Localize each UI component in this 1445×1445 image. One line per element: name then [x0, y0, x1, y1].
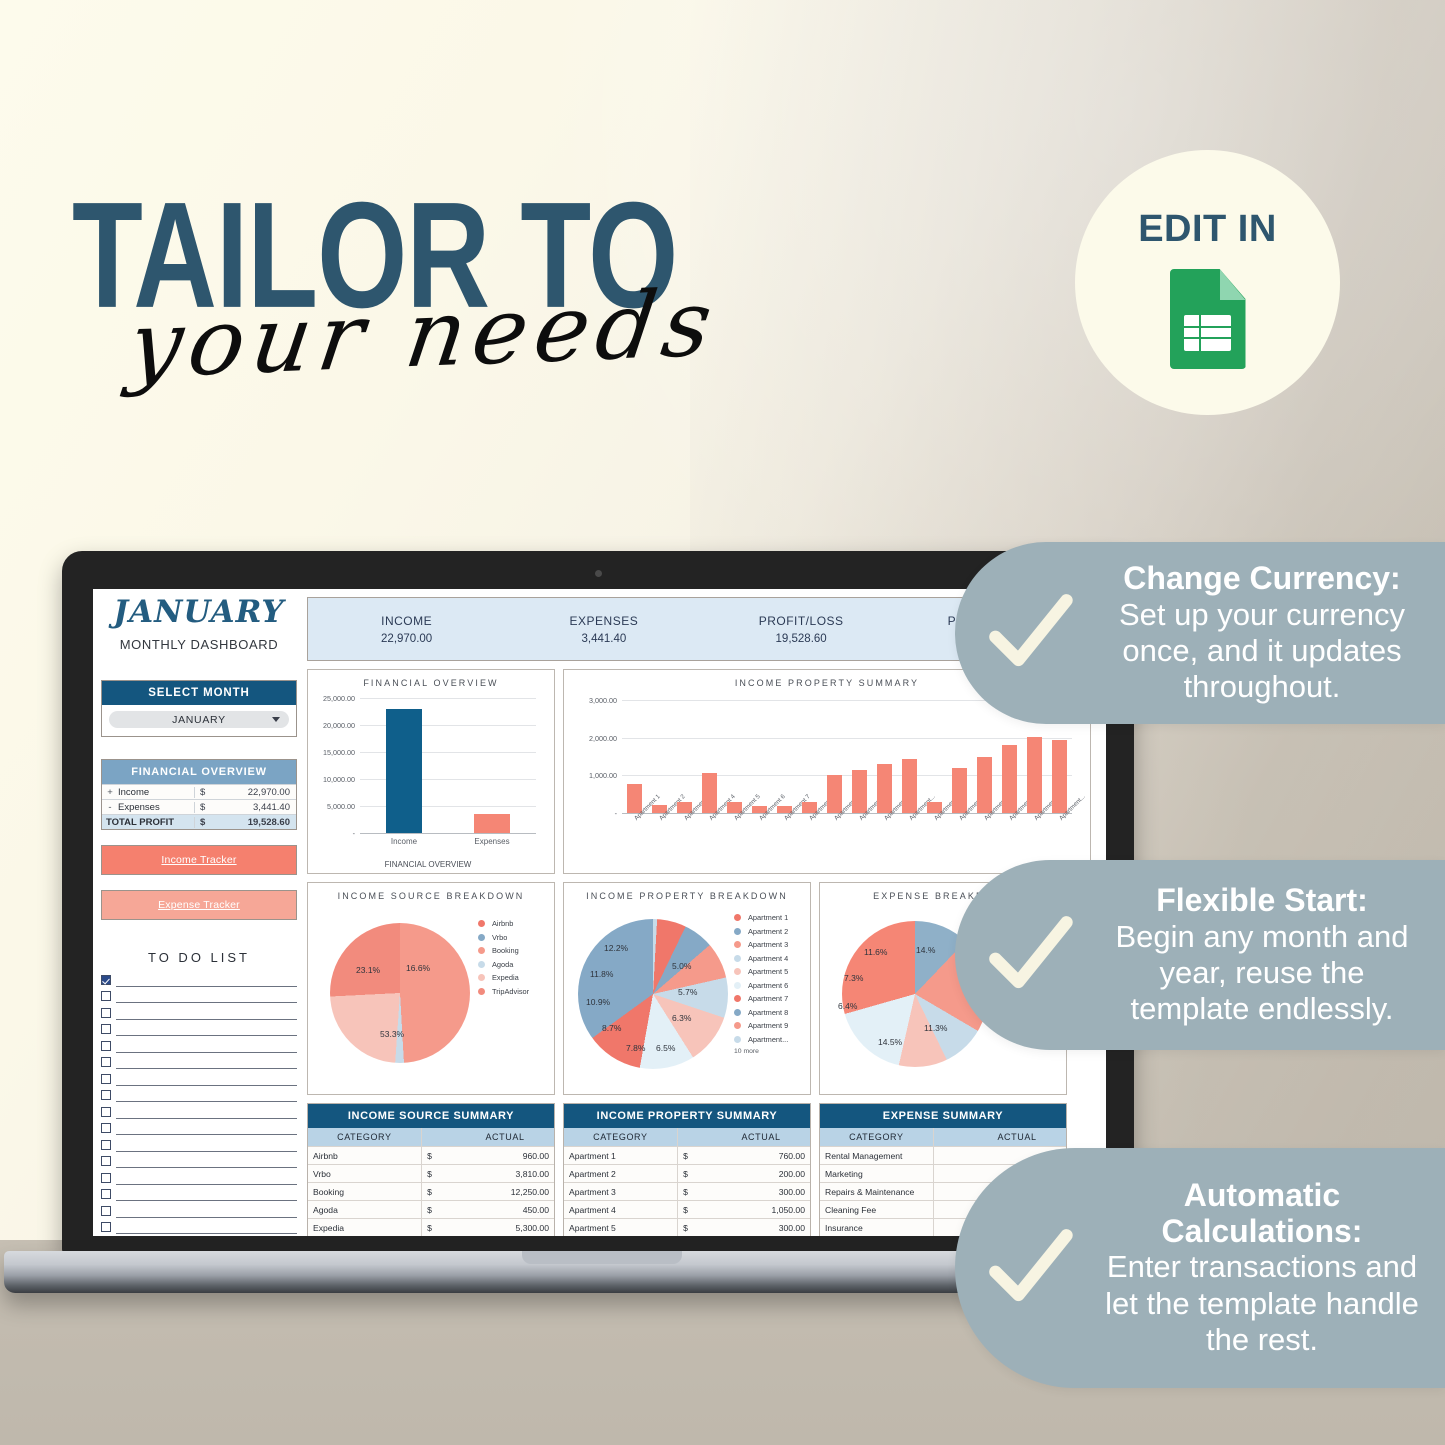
pie-slice-label: 10.9%: [586, 997, 610, 1007]
pie: [330, 923, 470, 1063]
select-month-header: SELECT MONTH: [102, 681, 296, 705]
pie-slice-label: 7.3%: [844, 973, 863, 983]
todo-list: [101, 970, 297, 1236]
chart-title: INCOME SOURCE BREAKDOWN: [308, 883, 554, 901]
pie-slice-label: 23.1%: [356, 965, 380, 975]
table-row: Booking$12,250.00: [308, 1182, 554, 1200]
kpi-value: 22,970.00: [308, 633, 505, 645]
todo-line: [116, 1167, 297, 1168]
bar: [852, 770, 868, 813]
table-income-property-summary: INCOME PROPERTY SUMMARY CATEGORY ACTUAL …: [563, 1103, 811, 1236]
legend-label: Apartment 1: [748, 913, 788, 922]
todo-line: [116, 1134, 297, 1135]
todo-checkbox[interactable]: [101, 1090, 111, 1100]
legend-label: Apartment 3: [748, 940, 788, 949]
cell-currency: [933, 1183, 967, 1200]
checkmark-icon: [955, 585, 1105, 681]
gridline: [360, 833, 536, 834]
cell-actual: 300.00: [712, 1183, 810, 1200]
legend-item: Airbnb: [478, 917, 529, 931]
y-axis-tick: 10,000.00: [308, 775, 355, 784]
legend-label: Agoda: [492, 960, 513, 969]
expense-tracker-button[interactable]: Expense Tracker: [101, 890, 297, 920]
cell-category: Apartment 3: [564, 1183, 677, 1200]
legend-label: Apartment 8: [748, 1008, 788, 1017]
cell-actual: 200.00: [712, 1165, 810, 1182]
legend-item: Apartment 3: [734, 938, 788, 952]
month-dropdown[interactable]: JANUARY: [109, 711, 289, 728]
todo-line: [116, 1151, 297, 1152]
pie-slice-label: 5.7%: [678, 987, 697, 997]
todo-line: [116, 1068, 297, 1069]
cell-category: Booking: [308, 1183, 421, 1200]
pie-slice-label: 7.8%: [626, 1043, 645, 1053]
row-label: Expenses: [118, 802, 194, 813]
callout-body: Enter transactions and let the template …: [1105, 1249, 1419, 1358]
todo-list-item[interactable]: [101, 1086, 297, 1103]
financial-row: - Expenses $ 3,441.40: [102, 799, 296, 814]
callout-heading: Automatic Calculations:: [1105, 1178, 1419, 1250]
month-dropdown-value: JANUARY: [172, 714, 226, 726]
pie: [578, 919, 728, 1069]
checkmark-icon: [955, 1220, 1105, 1316]
cell-category: Apartment 4: [564, 1201, 677, 1218]
legend-item: Apartment 5: [734, 965, 788, 979]
todo-checkbox[interactable]: [101, 1041, 111, 1051]
legend-label: TripAdvisor: [492, 987, 529, 996]
pie-slice-label: 11.8%: [590, 969, 613, 979]
table-row: Apartment 3$300.00: [564, 1182, 810, 1200]
legend-more[interactable]: 10 more: [734, 1048, 788, 1055]
todo-list-item[interactable]: [101, 1201, 297, 1218]
legend-item: Apartment 6: [734, 979, 788, 993]
y-axis-tick: -: [308, 829, 355, 838]
kpi-label: INCOME: [308, 614, 505, 628]
legend-swatch: [478, 920, 485, 927]
todo-checkbox[interactable]: [101, 1206, 111, 1216]
row-value: 3,441.40: [218, 802, 296, 813]
headline-script: your needs: [124, 278, 724, 392]
legend-label: Apartment 9: [748, 1021, 788, 1030]
todo-checkbox[interactable]: [101, 1107, 111, 1117]
column-header-actual: ACTUAL: [456, 1128, 554, 1146]
todo-list-item[interactable]: [101, 1036, 297, 1053]
todo-checkbox[interactable]: [101, 1123, 111, 1133]
cell-currency: $: [677, 1219, 711, 1236]
row-label: Income: [118, 787, 194, 798]
legend-swatch: [734, 914, 741, 921]
todo-list-item[interactable]: [101, 1234, 297, 1236]
total-currency: $: [194, 817, 218, 828]
chart-legend: Apartment 1Apartment 2Apartment 3Apartme…: [734, 911, 788, 1055]
legend-swatch: [734, 1036, 741, 1043]
cell-currency: $: [677, 1183, 711, 1200]
bar: [474, 814, 511, 833]
todo-list-item[interactable]: [101, 1102, 297, 1119]
callout-flexible-start: Flexible Start:Begin any month and year,…: [955, 860, 1445, 1050]
y-axis-tick: 1,000.00: [564, 771, 617, 780]
income-tracker-button[interactable]: Income Tracker: [101, 845, 297, 875]
laptop-notch: [522, 1251, 682, 1264]
legend-swatch: [478, 961, 485, 968]
legend-item: Apartment 4: [734, 952, 788, 966]
bar: [977, 757, 993, 814]
todo-list-item[interactable]: [101, 1119, 297, 1136]
y-axis-tick: -: [564, 809, 617, 818]
cell-actual: 300.00: [712, 1219, 810, 1236]
legend-swatch: [734, 982, 741, 989]
row-currency: $: [194, 802, 218, 813]
todo-line: [116, 1184, 297, 1185]
legend-label: Apartment 5: [748, 967, 788, 976]
chart-legend: AirbnbVrboBookingAgodaExpediaTripAdvisor: [478, 917, 529, 998]
todo-list-title: TO DO LIST: [101, 950, 297, 965]
legend-label: Expedia: [492, 973, 519, 982]
edit-in-badge: EDIT IN: [1075, 150, 1340, 415]
x-axis-tick: Income: [391, 837, 417, 846]
pie-slice-label: 16.6%: [406, 963, 430, 973]
table-row: Apartment 1$760.00: [564, 1146, 810, 1164]
row-currency: $: [194, 787, 218, 798]
pie-slice-label: 8.7%: [602, 1023, 621, 1033]
todo-list-item[interactable]: [101, 1152, 297, 1169]
bar: [877, 764, 893, 813]
chevron-down-icon: [272, 717, 280, 722]
cell-currency: $: [421, 1165, 455, 1182]
legend-item: Apartment 1: [734, 911, 788, 925]
legend-swatch: [734, 995, 741, 1002]
todo-checkbox[interactable]: [101, 1222, 111, 1232]
pie-slice-label: 6.5%: [656, 1043, 675, 1053]
cell-category: Expedia: [308, 1219, 421, 1236]
kpi-label: EXPENSES: [505, 614, 702, 628]
todo-checkbox[interactable]: [101, 1008, 111, 1018]
legend-label: Vrbo: [492, 933, 507, 942]
legend-item: Apartment 9: [734, 1019, 788, 1033]
todo-list-item[interactable]: [101, 1020, 297, 1037]
cell-actual: 3,810.00: [456, 1165, 554, 1182]
table-row: Apartment 2$200.00: [564, 1164, 810, 1182]
todo-line: [116, 1118, 297, 1119]
financial-overview-header: FINANCIAL OVERVIEW: [102, 760, 296, 784]
table-row: Agoda$450.00: [308, 1200, 554, 1218]
legend-label: Apartment...: [748, 1035, 788, 1044]
cell-currency: $: [677, 1201, 711, 1218]
legend-swatch: [734, 941, 741, 948]
todo-line: [116, 1085, 297, 1086]
cell-actual: 5,300.00: [456, 1219, 554, 1236]
pie-slice-label: 14.5%: [878, 1037, 902, 1047]
table-title: EXPENSE SUMMARY: [820, 1104, 1066, 1128]
bar: [827, 775, 843, 813]
legend-item: Expedia: [478, 971, 529, 985]
total-value: 19,528.60: [218, 817, 296, 828]
column-header-category: CATEGORY: [820, 1128, 933, 1146]
pie-slice-label: 11.3%: [924, 1023, 947, 1033]
legend-swatch: [734, 928, 741, 935]
cell-category: Repairs & Maintenance: [820, 1183, 933, 1200]
legend-swatch: [734, 1009, 741, 1016]
bar: [1027, 737, 1043, 813]
todo-checkbox[interactable]: [101, 1156, 111, 1166]
todo-checkbox[interactable]: [101, 1140, 111, 1150]
select-month-box: SELECT MONTH JANUARY: [101, 680, 297, 737]
y-axis-tick: 15,000.00: [308, 748, 355, 757]
bar: [1052, 740, 1068, 813]
table-header-row: CATEGORY ACTUAL: [308, 1128, 554, 1146]
pie-slice-label: 14.%: [916, 945, 935, 955]
financial-overview-box: FINANCIAL OVERVIEW + Income $ 22,970.00 …: [101, 759, 297, 830]
column-header-category: CATEGORY: [308, 1128, 421, 1146]
todo-list-item[interactable]: [101, 1135, 297, 1152]
y-axis-tick: 20,000.00: [308, 721, 355, 730]
cell-currency: $: [421, 1147, 455, 1164]
dashboard-subtitle: MONTHLY DASHBOARD: [101, 637, 297, 652]
legend-label: Airbnb: [492, 919, 513, 928]
cell-category: Agoda: [308, 1201, 421, 1218]
chart-income-source-breakdown: INCOME SOURCE BREAKDOWN 23.1%16.6%53.3%A…: [307, 882, 555, 1095]
cell-actual: 12,250.00: [456, 1183, 554, 1200]
pie-slice-label: 5.0%: [672, 961, 691, 971]
laptop-camera: [595, 570, 602, 577]
cell-category: Insurance: [820, 1219, 933, 1236]
callout-heading: Change Currency:: [1105, 561, 1419, 597]
bar: [386, 709, 423, 833]
legend-item: Apartment 2: [734, 925, 788, 939]
todo-list-item[interactable]: [101, 1053, 297, 1070]
table-row: Expedia$5,300.00: [308, 1218, 554, 1236]
todo-line: [116, 1019, 297, 1020]
chart-financial-overview: FINANCIAL OVERVIEW -5,000.0010,000.0015,…: [307, 669, 555, 874]
cell-currency: $: [677, 1165, 711, 1182]
legend-label: Apartment 6: [748, 981, 788, 990]
pie-slice-label: 53.3%: [380, 1029, 404, 1039]
bar: [902, 759, 918, 813]
chart-title: FINANCIAL OVERVIEW: [308, 670, 554, 688]
callout-change-currency: Change Currency:Set up your currency onc…: [955, 542, 1445, 724]
kpi-value: 19,528.60: [703, 633, 900, 645]
todo-list-item[interactable]: [101, 1003, 297, 1020]
legend-item: Apartment...: [734, 1033, 788, 1047]
todo-line: [116, 1002, 297, 1003]
x-axis-label: FINANCIAL OVERVIEW: [308, 860, 548, 869]
todo-checkbox[interactable]: [101, 1189, 111, 1199]
row-bullet: +: [102, 787, 118, 798]
pie-slice-label: 11.6%: [864, 947, 887, 957]
bar: [1002, 745, 1018, 813]
kpi-label: PROFIT/LOSS: [703, 614, 900, 628]
todo-line: [116, 1101, 297, 1102]
table-row: Apartment 4$1,050.00: [564, 1200, 810, 1218]
y-axis-tick: 2,000.00: [564, 734, 617, 743]
todo-line: [116, 1052, 297, 1053]
cell-currency: $: [421, 1183, 455, 1200]
cell-category: Airbnb: [308, 1147, 421, 1164]
chart-income-property-breakdown: INCOME PROPERTY BREAKDOWN 12.2%11.8%10.9…: [563, 882, 811, 1095]
kpi-expenses: EXPENSES 3,441.40: [505, 614, 702, 645]
legend-swatch: [478, 947, 485, 954]
cell-category: Vrbo: [308, 1165, 421, 1182]
todo-list-item[interactable]: [101, 987, 297, 1004]
todo-checkbox[interactable]: [101, 1074, 111, 1084]
legend-label: Booking: [492, 946, 519, 955]
edit-in-label: EDIT IN: [1138, 208, 1277, 251]
legend-item: Apartment 8: [734, 1006, 788, 1020]
legend-item: Agoda: [478, 958, 529, 972]
cell-actual: 760.00: [712, 1147, 810, 1164]
gridline: [360, 698, 536, 699]
headline-script-wrap: your needs: [130, 300, 714, 392]
financial-total-row: TOTAL PROFIT $ 19,528.60: [102, 814, 296, 829]
gridline: [622, 738, 1072, 739]
financial-row: + Income $ 22,970.00: [102, 784, 296, 799]
todo-checkbox[interactable]: [101, 1057, 111, 1067]
todo-checkbox[interactable]: [101, 991, 111, 1001]
legend-swatch: [734, 955, 741, 962]
legend-label: Apartment 7: [748, 994, 788, 1003]
legend-swatch: [734, 968, 741, 975]
todo-line: [116, 1035, 297, 1036]
todo-list-item[interactable]: [101, 1168, 297, 1185]
todo-list-item[interactable]: [101, 1069, 297, 1086]
callout-automatic-calculations: Automatic Calculations:Enter transaction…: [955, 1148, 1445, 1388]
column-header-category: CATEGORY: [564, 1128, 677, 1146]
kpi-income: INCOME 22,970.00: [308, 614, 505, 645]
todo-line: [116, 986, 297, 987]
table-row: Airbnb$960.00: [308, 1146, 554, 1164]
todo-checkbox[interactable]: [101, 975, 111, 985]
legend-item: Booking: [478, 944, 529, 958]
callout-body: Set up your currency once, and it update…: [1105, 597, 1419, 706]
todo-list-item[interactable]: [101, 970, 297, 987]
kpi-profit-loss: PROFIT/LOSS 19,528.60: [703, 614, 900, 645]
chart-title: INCOME PROPERTY BREAKDOWN: [564, 883, 810, 901]
cell-currency: [933, 1165, 967, 1182]
table-header-row: CATEGORY ACTUAL: [564, 1128, 810, 1146]
y-axis-tick: 25,000.00: [308, 694, 355, 703]
table-row: Apartment 5$300.00: [564, 1218, 810, 1236]
cell-category: Marketing: [820, 1165, 933, 1182]
cell-category: Apartment 1: [564, 1147, 677, 1164]
callout-heading: Flexible Start:: [1105, 883, 1419, 919]
pie-slice-label: 12.2%: [604, 943, 628, 953]
cell-currency: $: [677, 1147, 711, 1164]
todo-checkbox[interactable]: [101, 1024, 111, 1034]
y-axis-tick: 3,000.00: [564, 696, 617, 705]
x-axis-tick: Expenses: [474, 837, 509, 846]
cell-currency: $: [421, 1219, 455, 1236]
bar: [952, 768, 968, 813]
month-title: JANUARY: [101, 597, 297, 628]
kpi-value: 3,441.40: [505, 633, 702, 645]
google-sheets-icon: [1170, 269, 1246, 369]
todo-list-item[interactable]: [101, 1218, 297, 1235]
cell-currency: $: [421, 1201, 455, 1218]
cell-actual: 960.00: [456, 1147, 554, 1164]
todo-line: [116, 1217, 297, 1218]
row-value: 22,970.00: [218, 787, 296, 798]
table-header-row: CATEGORY ACTUAL: [820, 1128, 1066, 1146]
table-income-source-summary: INCOME SOURCE SUMMARY CATEGORY ACTUAL Ai…: [307, 1103, 555, 1236]
legend-label: Apartment 2: [748, 927, 788, 936]
legend-swatch: [478, 974, 485, 981]
table-title: INCOME PROPERTY SUMMARY: [564, 1104, 810, 1128]
cell-category: Apartment 5: [564, 1219, 677, 1236]
callout-body: Begin any month and year, reuse the temp…: [1105, 919, 1419, 1028]
table-row: Vrbo$3,810.00: [308, 1164, 554, 1182]
pie-slice-label: 6.4%: [838, 1001, 857, 1011]
column-header-actual: ACTUAL: [968, 1128, 1066, 1146]
legend-item: Vrbo: [478, 931, 529, 945]
todo-list-item[interactable]: [101, 1185, 297, 1202]
legend-item: Apartment 7: [734, 992, 788, 1006]
cell-category: Cleaning Fee: [820, 1201, 933, 1218]
cell-category: Apartment 2: [564, 1165, 677, 1182]
legend-swatch: [478, 934, 485, 941]
dashboard-sidebar: JANUARY MONTHLY DASHBOARD SELECT MONTH J…: [101, 597, 297, 1236]
legend-item: TripAdvisor: [478, 985, 529, 999]
todo-line: [116, 1200, 297, 1201]
table-title: INCOME SOURCE SUMMARY: [308, 1104, 554, 1128]
todo-checkbox[interactable]: [101, 1173, 111, 1183]
bar: [702, 773, 718, 813]
row-bullet: -: [102, 802, 118, 813]
todo-line: [116, 1233, 297, 1234]
cell-actual: 1,050.00: [712, 1201, 810, 1218]
total-label: TOTAL PROFIT: [102, 817, 194, 828]
cell-currency: [933, 1147, 967, 1164]
legend-swatch: [478, 988, 485, 995]
legend-label: Apartment 4: [748, 954, 788, 963]
column-header-actual: ACTUAL: [712, 1128, 810, 1146]
checkmark-icon: [955, 907, 1105, 1003]
pie-slice-label: 6.3%: [672, 1013, 691, 1023]
y-axis-tick: 5,000.00: [308, 802, 355, 811]
cell-category: Rental Management: [820, 1147, 933, 1164]
legend-swatch: [734, 1022, 741, 1029]
cell-actual: 450.00: [456, 1201, 554, 1218]
cell-currency: [933, 1201, 967, 1218]
